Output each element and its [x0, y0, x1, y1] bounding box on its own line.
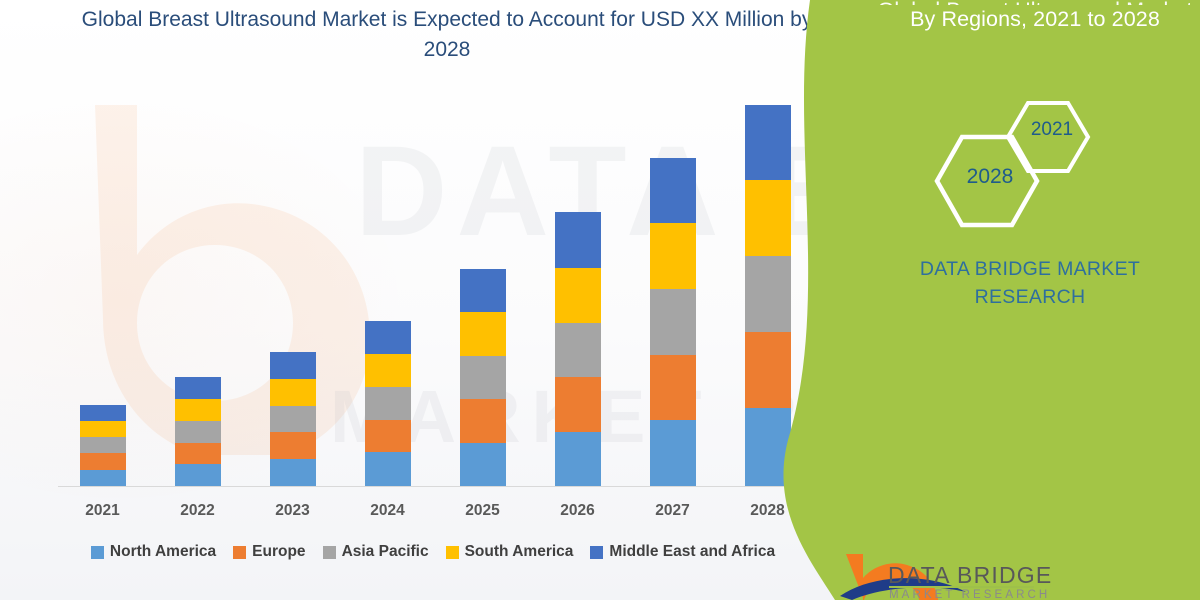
hexagon-label-2028: 2028	[944, 165, 1036, 189]
panel-title-main: By Regions, 2021 to 2028	[910, 7, 1160, 31]
bar-segment-middle-east-and-africa	[175, 377, 221, 399]
legend-label: Europe	[252, 543, 305, 561]
bar-column-2023	[248, 95, 338, 486]
stacked-bar	[270, 352, 316, 486]
brand-line-2: RESEARCH	[975, 286, 1086, 308]
bar-segment-europe	[460, 399, 506, 442]
legend-item-europe[interactable]: Europe	[233, 543, 305, 561]
legend-item-north-america[interactable]: North America	[91, 543, 216, 561]
logo-subtitle: MARKET RESEARCH	[889, 589, 1050, 600]
bar-segment-europe	[365, 420, 411, 453]
x-axis-label-2021: 2021	[58, 502, 148, 520]
bar-segment-south-america	[175, 399, 221, 421]
bar-segment-north-america	[365, 452, 411, 486]
legend-item-south-america[interactable]: South America	[446, 543, 574, 561]
bar-segment-europe	[650, 355, 696, 420]
infographic-canvas: DATA BRIDGE MARKET RESEARCH Global Breas…	[0, 0, 1200, 600]
brand-name: DATA BRIDGE MARKET RESEARCH	[880, 255, 1180, 311]
chart-legend: North AmericaEuropeAsia PacificSouth Ame…	[48, 540, 818, 564]
x-axis-label-2023: 2023	[248, 502, 338, 520]
bar-column-2024	[343, 95, 433, 486]
legend-swatch-icon	[323, 546, 336, 559]
x-axis-label-2026: 2026	[533, 502, 623, 520]
bar-segment-south-america	[650, 223, 696, 289]
legend-label: Asia Pacific	[342, 543, 429, 561]
bar-segment-asia-pacific	[175, 421, 221, 443]
bar-segment-north-america	[175, 464, 221, 486]
legend-swatch-icon	[233, 546, 246, 559]
hexagon-label-2021: 2021	[1013, 119, 1091, 141]
x-axis-label-2024: 2024	[343, 502, 433, 520]
bar-column-2026	[533, 95, 623, 486]
stacked-bar	[175, 377, 221, 486]
logo-wordmark: DATA BRIDGE	[888, 562, 1052, 589]
bar-column-2021	[58, 95, 148, 486]
bar-segment-europe	[80, 453, 126, 469]
bar-segment-asia-pacific	[270, 406, 316, 432]
stacked-bar	[460, 269, 506, 486]
bar-column-2022	[153, 95, 243, 486]
bar-segment-middle-east-and-africa	[270, 352, 316, 378]
panel-title: Global Breast Ultrasound Market By Regio…	[870, 0, 1200, 33]
bar-segment-north-america	[555, 432, 601, 486]
bar-segment-asia-pacific	[80, 437, 126, 453]
bar-segment-south-america	[80, 421, 126, 437]
bar-segment-europe	[175, 443, 221, 465]
bar-segment-europe	[555, 377, 601, 431]
bar-segment-asia-pacific	[365, 387, 411, 420]
bar-column-2025	[438, 95, 528, 486]
bar-segment-north-america	[270, 459, 316, 486]
stacked-bar	[365, 321, 411, 486]
stacked-bar	[650, 158, 696, 486]
legend-label: Middle East and Africa	[609, 543, 775, 561]
x-axis-line	[58, 486, 808, 487]
legend-label: South America	[465, 543, 574, 561]
bar-segment-asia-pacific	[460, 356, 506, 399]
x-axis-label-2027: 2027	[628, 502, 718, 520]
bar-segment-middle-east-and-africa	[365, 321, 411, 354]
bar-segment-south-america	[270, 379, 316, 406]
stacked-bar	[80, 405, 126, 486]
x-axis-label-2025: 2025	[438, 502, 528, 520]
bar-segment-south-america	[365, 354, 411, 388]
legend-swatch-icon	[590, 546, 603, 559]
bar-segment-middle-east-and-africa	[650, 158, 696, 223]
bar-segment-south-america	[555, 268, 601, 323]
bar-segment-south-america	[460, 312, 506, 355]
panel-title-clipped: Global Breast Ultrasound Market	[870, 0, 1200, 5]
legend-item-asia-pacific[interactable]: Asia Pacific	[323, 543, 429, 561]
bar-segment-north-america	[80, 470, 126, 486]
bar-segment-north-america	[650, 420, 696, 486]
logo-underline	[889, 586, 1034, 588]
x-axis-labels: 20212022202320242025202620272028	[55, 498, 815, 524]
legend-swatch-icon	[446, 546, 459, 559]
bar-segment-middle-east-and-africa	[460, 269, 506, 312]
bar-segment-europe	[270, 432, 316, 459]
bar-segment-asia-pacific	[650, 289, 696, 354]
x-axis-label-2022: 2022	[153, 502, 243, 520]
legend-swatch-icon	[91, 546, 104, 559]
stacked-bar	[555, 212, 601, 486]
bar-segment-middle-east-and-africa	[80, 405, 126, 421]
legend-item-middle-east-and-africa[interactable]: Middle East and Africa	[590, 543, 775, 561]
bar-column-2027	[628, 95, 718, 486]
stacked-bar-chart	[55, 95, 815, 486]
brand-line-1: DATA BRIDGE MARKET	[920, 258, 1140, 280]
chart-title: Global Breast Ultrasound Market is Expec…	[62, 5, 832, 65]
bar-segment-asia-pacific	[555, 323, 601, 377]
bar-segment-middle-east-and-africa	[555, 212, 601, 267]
legend-label: North America	[110, 543, 216, 561]
bar-segment-north-america	[460, 443, 506, 486]
